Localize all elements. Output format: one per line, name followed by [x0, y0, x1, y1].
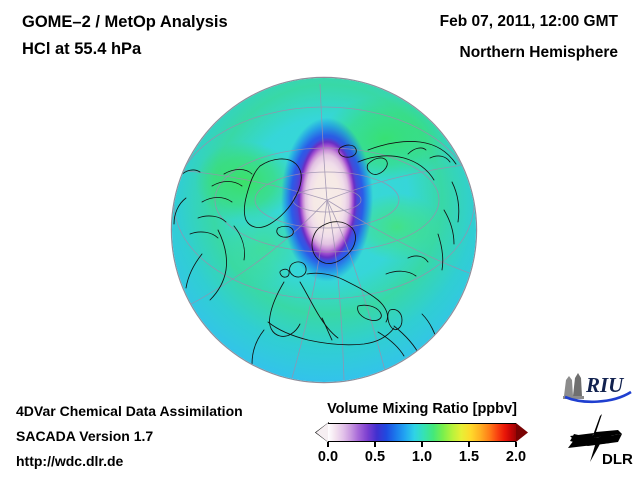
colorbar-gradient — [328, 423, 516, 442]
colorbar-tick-label: 0.0 — [318, 449, 338, 465]
globe-map — [172, 78, 476, 382]
dlr-logo-text: DLR — [602, 451, 633, 468]
date-time-label: Feb 07, 2011, 12:00 GMT — [440, 13, 618, 31]
colorbar: 0.00.51.01.52.0 — [316, 423, 528, 467]
colorbar-tick-labels: 0.00.51.01.52.0 — [316, 449, 528, 467]
riu-logo: RIU — [560, 370, 634, 404]
riu-logo-text: RIU — [585, 373, 625, 397]
colorbar-ticks — [316, 442, 528, 448]
colorbar-max-arrow — [516, 423, 528, 442]
colorbar-tick-label: 2.0 — [506, 449, 526, 465]
colorbar-tick — [468, 442, 469, 447]
dlr-logo: DLR — [566, 412, 634, 468]
colorbar-min-arrow — [316, 423, 328, 442]
colorbar-tick-label: 1.5 — [459, 449, 479, 465]
colorbar-tick — [327, 442, 328, 447]
colorbar-tick — [374, 442, 375, 447]
species-subtitle: HCl at 55.4 hPa — [22, 40, 141, 59]
colorbar-tick-label: 0.5 — [365, 449, 385, 465]
website-url[interactable]: http://wdc.dlr.de — [16, 453, 123, 469]
hemisphere-label: Northern Hemisphere — [460, 44, 618, 62]
instrument-title: GOME–2 / MetOp Analysis — [22, 13, 228, 32]
colorbar-tick — [421, 442, 422, 447]
version-label: SACADA Version 1.7 — [16, 428, 153, 444]
colorbar-tick-label: 1.0 — [412, 449, 432, 465]
coastlines — [172, 78, 476, 382]
method-label: 4DVar Chemical Data Assimilation — [16, 403, 243, 419]
colorbar-tick — [515, 442, 516, 447]
colorbar-title: Volume Mixing Ratio [ppbv] — [327, 401, 517, 417]
